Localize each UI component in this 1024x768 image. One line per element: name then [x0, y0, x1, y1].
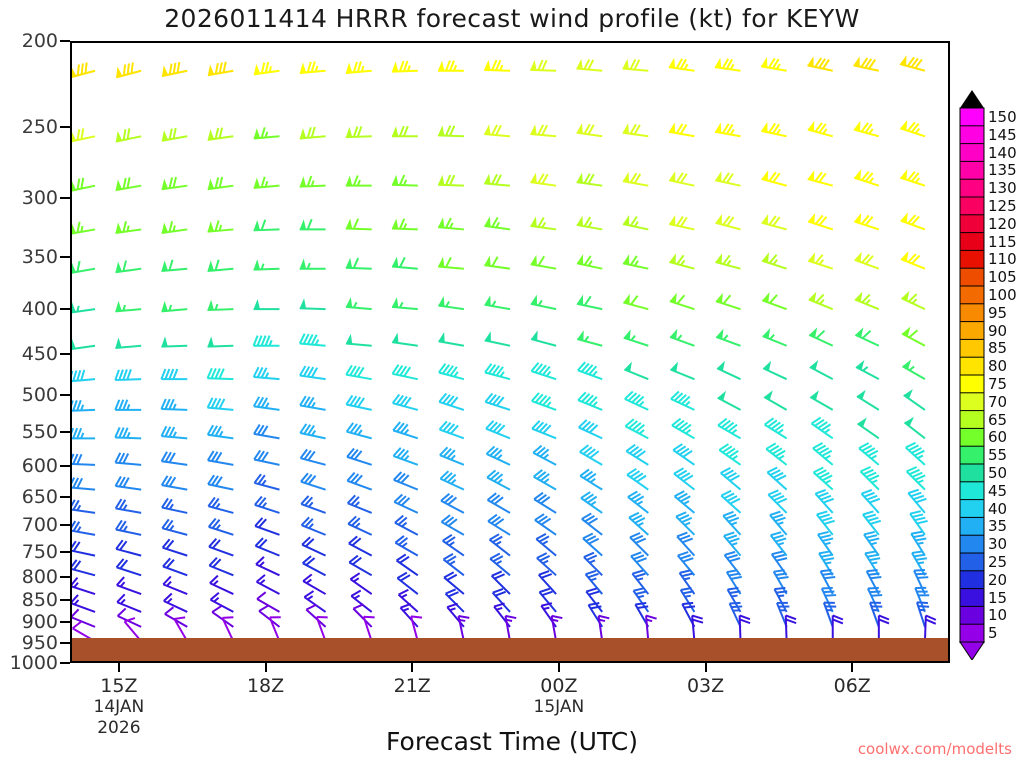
- wind-barb: [72, 128, 95, 141]
- wind-barb: [303, 556, 326, 575]
- wind-barb: [721, 468, 741, 490]
- colorbar-tick-label: 45: [988, 482, 1007, 500]
- wind-barb: [670, 329, 694, 346]
- wind-barb: [669, 215, 694, 229]
- wind-barb: [346, 297, 372, 309]
- wind-barb: [763, 328, 787, 346]
- wind-barb: [900, 120, 925, 136]
- colorbar-swatch: [960, 428, 984, 446]
- wind-barb: [72, 178, 95, 191]
- colorbar-tick-label: 85: [988, 339, 1007, 357]
- wind-barb: [395, 536, 417, 556]
- wind-barb: [208, 128, 234, 140]
- wind-barb: [346, 219, 372, 230]
- wind-barb: [822, 588, 836, 612]
- wind-barb: [900, 169, 925, 185]
- wind-barb: [254, 259, 280, 269]
- wind-barb: [810, 360, 833, 379]
- wind-barb: [531, 330, 556, 345]
- wind-barb: [719, 444, 740, 465]
- wind-barb: [161, 369, 187, 379]
- pressure-tick-mark: [60, 524, 70, 526]
- time-tick-mark: [265, 663, 267, 672]
- wind-barb: [669, 171, 694, 185]
- wind-barb: [72, 302, 95, 313]
- colorbar-tick-label: 55: [988, 446, 1007, 464]
- wind-barb: [669, 122, 694, 136]
- wind-barb: [671, 391, 694, 409]
- wind-barb: [623, 123, 649, 136]
- wind-barb: [162, 221, 188, 233]
- wind-barb: [629, 513, 648, 535]
- wind-barb: [767, 467, 786, 489]
- wind-barb: [766, 443, 786, 464]
- wind-barb: [580, 445, 602, 465]
- colorbar-swatch: [960, 126, 984, 144]
- pressure-tick-mark: [60, 308, 70, 310]
- wind-barb: [532, 421, 556, 439]
- wind-barb: [490, 534, 510, 555]
- wind-barb: [115, 427, 141, 438]
- colorbar-swatch: [960, 197, 984, 215]
- colorbar-swatch: [960, 571, 984, 589]
- wind-barb: [161, 426, 187, 438]
- wind-barb: [900, 55, 925, 70]
- wind-barb: [770, 512, 787, 535]
- wind-barb: [116, 520, 141, 534]
- wind-barb: [347, 473, 371, 490]
- wind-barb: [577, 330, 602, 345]
- wind-barb: [347, 423, 372, 438]
- wind-barb: [72, 478, 95, 490]
- wind-barb: [623, 215, 648, 229]
- pressure-tick-label: 450: [0, 343, 58, 365]
- pressure-tick-label: 200: [0, 30, 58, 52]
- wind-barb: [627, 469, 648, 490]
- wind-barb: [254, 220, 280, 231]
- wind-barb: [208, 336, 234, 346]
- wind-barb: [854, 121, 879, 136]
- time-tick-label: 03Z: [687, 675, 724, 697]
- wind-barb: [209, 539, 233, 556]
- wind-barb: [72, 595, 95, 612]
- wind-barb: [256, 557, 279, 575]
- wind-barb: [441, 494, 464, 513]
- watermark: coolwx.com/modelts: [858, 740, 1012, 758]
- wind-barb: [440, 471, 463, 489]
- wind-barb: [117, 559, 142, 575]
- wind-barb: [115, 369, 141, 380]
- wind-barb: [72, 261, 95, 273]
- wind-barb: [534, 470, 556, 490]
- wind-barb: [254, 474, 279, 489]
- wind-barb: [910, 511, 928, 535]
- wind-barb: [254, 425, 279, 439]
- date-sublabel: 14JAN: [94, 697, 145, 717]
- wind-barb: [259, 605, 279, 626]
- colorbar-swatch: [960, 464, 984, 482]
- colorbar-swatch: [960, 482, 984, 500]
- wind-barb: [302, 537, 325, 555]
- wind-barb: [348, 516, 371, 534]
- wind-barb: [116, 221, 142, 233]
- wind-barb: [807, 56, 832, 70]
- wind-barb: [164, 593, 187, 611]
- pressure-tick-label: 250: [0, 116, 58, 138]
- wind-barb: [115, 400, 141, 410]
- wind-barb: [254, 450, 279, 464]
- wind-barb: [346, 62, 372, 74]
- wind-barb: [762, 292, 786, 309]
- wind-barb: [72, 222, 95, 234]
- wind-barb: [628, 491, 648, 512]
- wind-barb: [901, 291, 924, 309]
- wind-barb: [808, 213, 833, 229]
- wind-barb: [162, 452, 188, 465]
- wind-barb: [904, 389, 925, 410]
- colorbar-tick-label: 125: [988, 197, 1017, 215]
- time-tick-label: 06Z: [834, 675, 871, 697]
- colorbar-tick-label: 135: [988, 161, 1017, 179]
- time-tick-label: 00Z: [540, 675, 577, 697]
- wind-barb: [350, 573, 371, 594]
- time-tick-mark: [705, 663, 707, 672]
- wind-barb: [534, 493, 556, 513]
- time-tick-label: 15Z: [100, 675, 137, 697]
- wind-barb: [346, 365, 371, 379]
- wind-barb: [439, 393, 464, 409]
- wind-barb: [728, 588, 741, 612]
- wind-barb: [715, 171, 740, 185]
- wind-barb: [303, 574, 325, 594]
- wind-barb: [208, 177, 234, 189]
- wind-barb: [623, 172, 648, 186]
- wind-barb: [161, 399, 187, 410]
- wind-barb: [72, 521, 95, 535]
- wind-barb: [440, 447, 464, 465]
- wind-barb: [777, 603, 789, 627]
- pressure-tick-mark: [60, 599, 70, 601]
- pressure-tick-label: 600: [0, 455, 58, 477]
- pressure-tick-label: 400: [0, 298, 58, 320]
- wind-barb: [908, 490, 926, 513]
- colorbar-tick-label: 10: [988, 606, 1007, 624]
- wind-barb: [254, 62, 280, 74]
- wind-barb: [915, 588, 929, 612]
- colorbar-tick-label: 65: [988, 411, 1007, 429]
- wind-barb: [902, 327, 925, 346]
- wind-barb: [72, 609, 95, 627]
- wind-barb: [257, 575, 280, 594]
- wind-barb: [768, 490, 786, 513]
- pressure-tick-mark: [60, 662, 70, 664]
- colorbar-swatch: [960, 268, 984, 286]
- wind-barb: [870, 603, 882, 627]
- wind-barb: [115, 453, 141, 465]
- wind-barb: [393, 394, 418, 409]
- wind-barb: [673, 444, 694, 465]
- wind-barb: [300, 396, 325, 410]
- wind-barb: [576, 59, 602, 71]
- wind-barb: [400, 604, 417, 627]
- wind-barb: [674, 468, 694, 489]
- wind-barb: [533, 446, 556, 465]
- wind-barb: [716, 329, 740, 346]
- colorbar-swatch: [960, 339, 984, 357]
- wind-barb: [301, 449, 326, 464]
- wind-barb: [117, 577, 141, 594]
- colorbar-tick-label: 100: [988, 286, 1017, 304]
- wind-barb: [625, 419, 648, 438]
- wind-barb: [577, 173, 603, 186]
- pressure-tick-label: 800: [0, 566, 58, 588]
- wind-barb: [670, 293, 695, 309]
- pressure-tick-mark: [60, 40, 70, 42]
- wind-barb: [208, 398, 234, 410]
- wind-barb: [353, 604, 371, 627]
- wind-barb: [72, 578, 95, 594]
- wind-barb: [161, 260, 187, 271]
- wind-barb: [488, 493, 510, 513]
- wind-barb: [438, 125, 464, 136]
- colorbar-swatch: [960, 233, 984, 251]
- pressure-tick-mark: [60, 394, 70, 396]
- colorbar-swatch: [960, 535, 984, 553]
- colorbar-swatch: [960, 411, 984, 429]
- colorbar-tick-label: 75: [988, 375, 1007, 393]
- wind-barb: [582, 513, 602, 534]
- colorbar-swatch: [960, 286, 984, 304]
- colorbar-tick-label: 15: [988, 589, 1007, 607]
- wind-barb: [346, 334, 372, 346]
- wind-barb: [306, 605, 325, 627]
- wind-barb: [808, 252, 833, 268]
- wind-barb: [901, 212, 925, 229]
- wind-barb: [392, 365, 417, 379]
- wind-barb: [862, 490, 880, 513]
- colorbar-swatch: [960, 179, 984, 197]
- wind-barb: [438, 217, 464, 229]
- wind-barb: [669, 253, 694, 268]
- wind-barb: [300, 298, 326, 309]
- wind-barb: [346, 395, 371, 409]
- wind-barb: [861, 467, 879, 490]
- wind-barb: [438, 332, 463, 346]
- wind-barb: [717, 361, 740, 379]
- wind-barb: [530, 124, 556, 136]
- wind-barb: [868, 588, 882, 612]
- wind-barb: [672, 419, 694, 439]
- wind-barb: [578, 362, 602, 379]
- wind-barb: [581, 492, 602, 513]
- pressure-tick-label: 650: [0, 486, 58, 508]
- wind-barb: [808, 121, 833, 136]
- wind-barb: [254, 177, 280, 188]
- wind-barb: [488, 515, 510, 535]
- wind-barb: [623, 294, 648, 309]
- wind-barb: [716, 293, 741, 309]
- wind-barb: [162, 62, 187, 76]
- wind-barb: [761, 122, 786, 136]
- wind-barb: [393, 448, 417, 465]
- time-tick-mark: [558, 663, 560, 672]
- wind-barb: [903, 359, 925, 379]
- wind-barb: [72, 400, 95, 411]
- colorbar-under-arrow: [960, 642, 984, 660]
- wind-barb: [394, 494, 417, 512]
- wind-barb: [676, 512, 694, 535]
- pressure-tick-mark: [60, 551, 70, 553]
- wind-barb: [761, 57, 786, 71]
- wind-barb: [580, 469, 602, 489]
- wind-barb: [854, 213, 879, 229]
- wind-barb: [624, 362, 648, 380]
- time-tick-label: 21Z: [394, 675, 431, 697]
- wind-barb: [484, 256, 510, 269]
- wind-barb: [255, 497, 280, 513]
- wind-barb: [765, 418, 787, 438]
- colorbar-tick-label: 30: [988, 535, 1007, 553]
- wind-barb: [485, 295, 510, 309]
- wind-barb: [438, 175, 464, 186]
- wind-barb: [300, 219, 326, 229]
- wind-barb: [301, 473, 326, 489]
- year-sublabel: 2026: [97, 718, 140, 738]
- wind-barb: [530, 60, 556, 71]
- wind-barb: [917, 602, 929, 627]
- colorbar-swatch: [960, 161, 984, 179]
- wind-barb: [116, 477, 142, 490]
- wind-barb: [721, 491, 740, 513]
- wind-barb: [484, 174, 510, 186]
- wind-barb: [718, 419, 740, 439]
- wind-barb: [535, 514, 556, 535]
- wind-barb: [824, 603, 836, 627]
- wind-barb: [440, 421, 464, 438]
- wind-barb: [397, 554, 418, 575]
- wind-barb: [774, 588, 787, 612]
- wind-barb: [905, 417, 925, 438]
- wind-barb: [255, 518, 279, 535]
- wind-barb: [485, 393, 510, 409]
- pressure-tick-label: 850: [0, 589, 58, 611]
- colorbar-tick-label: 25: [988, 553, 1007, 571]
- date-sublabel: 15JAN: [534, 697, 585, 717]
- colorbar-tick-label: 40: [988, 500, 1007, 518]
- pressure-tick-mark: [60, 197, 70, 199]
- wind-barb: [486, 421, 510, 439]
- wind-barb: [208, 221, 234, 232]
- colorbar-tick-label: 105: [988, 268, 1017, 286]
- colorbar-swatch: [960, 589, 984, 607]
- wind-barb: [392, 333, 418, 346]
- wind-barb: [716, 214, 741, 229]
- wind-barb: [208, 475, 233, 489]
- wind-barb: [578, 392, 602, 410]
- wind-barb: [675, 491, 695, 513]
- wind-barb: [764, 390, 786, 410]
- wind-barb: [577, 123, 603, 136]
- wind-barb: [346, 176, 372, 186]
- pressure-tick-mark: [60, 576, 70, 578]
- wind-barb: [813, 443, 833, 465]
- wind-barb: [857, 390, 879, 410]
- wind-barb: [763, 361, 786, 379]
- wind-barb: [346, 126, 372, 137]
- wind-barb: [208, 300, 234, 310]
- wind-barb: [815, 490, 833, 513]
- wind-barb: [72, 339, 95, 350]
- wind-barb: [162, 498, 187, 512]
- wind-barb: [577, 295, 602, 309]
- wind-barb: [116, 177, 141, 190]
- wind-barb: [208, 368, 234, 379]
- colorbar-tick-label: 130: [988, 179, 1017, 197]
- wind-barb: [487, 446, 510, 464]
- wind-barb: [254, 397, 280, 410]
- wind-barb: [531, 363, 556, 379]
- wind-barb: [392, 61, 418, 72]
- wind-barb: [485, 364, 510, 379]
- wind-speed-colorbar: 1501451401351301251201151101051009590858…: [958, 90, 1024, 660]
- wind-barb: [300, 366, 326, 379]
- pressure-tick-mark: [60, 642, 70, 644]
- wind-barb: [762, 214, 787, 229]
- time-tick-mark: [851, 663, 853, 672]
- wind-barb: [809, 327, 832, 345]
- wind-barb: [392, 126, 418, 136]
- wind-barb: [162, 476, 187, 490]
- colorbar-swatch: [960, 375, 984, 393]
- wind-barb: [715, 58, 741, 71]
- colorbar-swatch: [960, 215, 984, 233]
- colorbar-tick-label: 115: [988, 233, 1017, 251]
- wind-barb: [117, 594, 141, 612]
- wind-barb: [438, 296, 464, 309]
- wind-barb: [531, 295, 556, 309]
- pressure-tick-label: 900: [0, 611, 58, 633]
- terrain-bar: [72, 638, 948, 661]
- wind-barb: [812, 418, 833, 439]
- pressure-tick-label: 750: [0, 541, 58, 563]
- wind-barb: [116, 128, 141, 141]
- colorbar-tick-label: 60: [988, 428, 1007, 446]
- colorbar-tick-label: 20: [988, 571, 1007, 589]
- wind-barb: [530, 216, 556, 229]
- colorbar-tick-label: 50: [988, 464, 1007, 482]
- colorbar-tick-label: 95: [988, 304, 1007, 322]
- colorbar-tick-label: 5: [988, 624, 998, 642]
- wind-barb: [443, 554, 463, 575]
- wind-barb: [161, 301, 187, 311]
- wind-barb: [254, 127, 280, 138]
- wind-barb: [392, 297, 418, 309]
- wind-barb: [300, 334, 326, 346]
- wind-barb: [484, 124, 510, 136]
- pressure-tick-label: 500: [0, 384, 58, 406]
- wind-barb: [906, 443, 925, 465]
- colorbar-over-arrow: [960, 90, 984, 108]
- wind-barb: [854, 169, 879, 185]
- pressure-tick-mark: [60, 621, 70, 623]
- wind-barb: [579, 420, 602, 438]
- wind-barb: [810, 390, 832, 410]
- wind-barb: [623, 254, 648, 268]
- wind-barb: [116, 62, 141, 77]
- wind-barb: [72, 428, 95, 438]
- wind-barb: [257, 592, 279, 612]
- wind-barb: [716, 253, 741, 268]
